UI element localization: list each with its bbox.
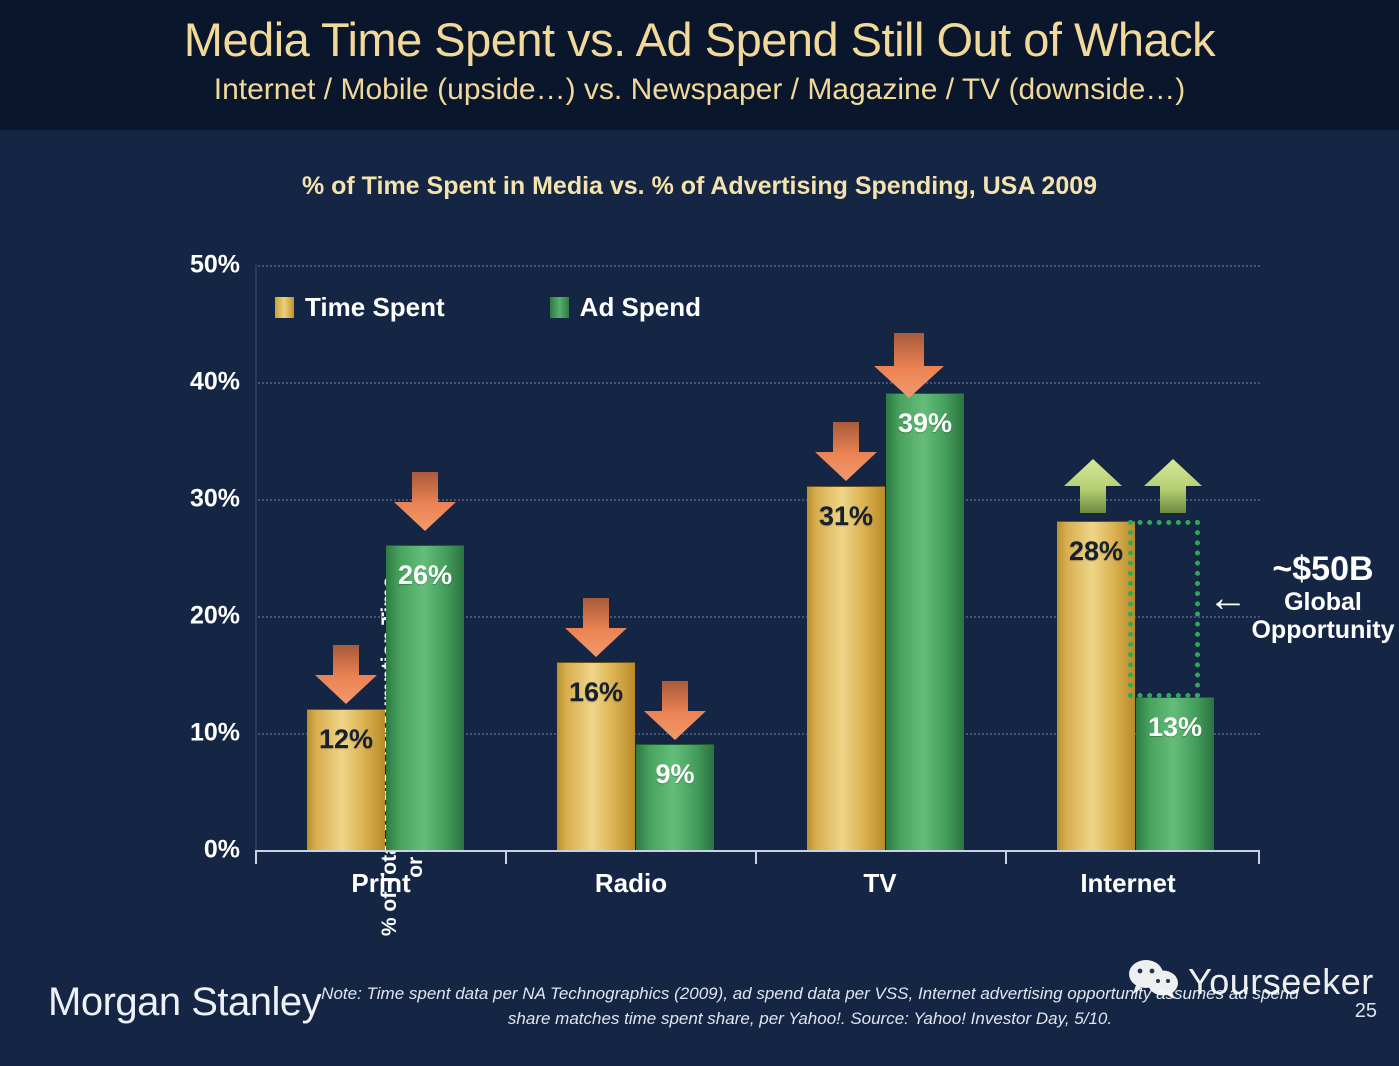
x-category-label-radio: Radio	[595, 868, 667, 899]
y-tick-50: 50%	[160, 251, 240, 280]
bar-label-tv-time-spent: 31%	[819, 501, 873, 850]
y-axis-tick-labels: 50% 40% 30% 20% 10% 0%	[155, 0, 240, 1052]
y-axis-line	[255, 265, 257, 850]
x-category-label-internet: Internet	[1080, 868, 1175, 899]
morgan-stanley-logo: Morgan Stanley	[48, 980, 321, 1025]
y-tick-0: 0%	[160, 836, 240, 865]
arrow-down-icon-print-ad-spend	[392, 472, 458, 532]
bar-print-time-spent[interactable]: 12%	[307, 709, 385, 850]
opportunity-line1: Global	[1248, 588, 1398, 616]
bar-label-radio-ad-spend: 9%	[655, 759, 694, 850]
bar-radio-time-spent[interactable]: 16%	[557, 662, 635, 850]
legend-swatch-icon-time-spent	[275, 297, 294, 318]
bar-label-internet-ad-spend: 13%	[1148, 712, 1202, 850]
bar-internet-ad-spend[interactable]: 13%	[1136, 697, 1214, 850]
bar-label-print-ad-spend: 26%	[398, 560, 452, 850]
bar-radio-ad-spend[interactable]: 9%	[636, 744, 714, 850]
bar-label-print-time-spent: 12%	[319, 724, 373, 850]
arrow-up-icon-internet-ad-spend	[1142, 458, 1204, 514]
bar-label-radio-time-spent: 16%	[569, 677, 623, 850]
opportunity-annotation: ~$50B Global Opportunity	[1248, 550, 1398, 644]
x-category-label-print: Print	[351, 868, 410, 899]
bar-print-ad-spend[interactable]: 26%	[386, 545, 464, 850]
x-axis-tick-3	[1005, 850, 1007, 864]
watermark: Yourseeker	[1128, 958, 1374, 1005]
arrow-down-icon-radio-ad-spend	[642, 681, 708, 741]
opportunity-line2: Opportunity	[1248, 616, 1398, 644]
x-axis-tick-4	[1258, 850, 1260, 864]
x-axis-tick-1	[505, 850, 507, 864]
y-tick-40: 40%	[160, 368, 240, 397]
arrow-down-icon-print-time-spent	[313, 645, 379, 705]
bar-tv-time-spent[interactable]: 31%	[807, 486, 885, 850]
x-axis-tick-0	[255, 850, 257, 864]
arrow-up-icon-internet-time-spent	[1062, 458, 1124, 514]
opportunity-box	[1128, 520, 1200, 698]
bar-group-print: 12% 26%	[307, 265, 467, 850]
x-axis-tick-2	[755, 850, 757, 864]
bar-group-radio: 16% 9%	[557, 265, 717, 850]
arrow-down-icon-radio-time-spent	[563, 598, 629, 658]
x-category-label-tv: TV	[863, 868, 896, 899]
bar-label-tv-ad-spend: 39%	[898, 408, 952, 850]
x-axis-line	[255, 850, 1260, 852]
arrow-down-icon-tv-time-spent	[813, 422, 879, 482]
y-tick-30: 30%	[160, 485, 240, 514]
arrow-down-icon-tv-ad-spend	[872, 333, 946, 399]
bar-internet-time-spent[interactable]: 28%	[1057, 521, 1135, 850]
opportunity-amount: ~$50B	[1248, 550, 1398, 588]
y-tick-20: 20%	[160, 602, 240, 631]
bar-tv-ad-spend[interactable]: 39%	[886, 393, 964, 850]
y-tick-10: 10%	[160, 719, 240, 748]
footnote-line1: Note: Time spent data per NA Technograph…	[321, 984, 1248, 1003]
bar-label-internet-time-spent: 28%	[1069, 536, 1123, 850]
watermark-text: Yourseeker	[1188, 961, 1374, 1003]
opportunity-arrow-icon: ←	[1208, 578, 1248, 618]
wechat-bubble-icon	[1128, 958, 1182, 1005]
